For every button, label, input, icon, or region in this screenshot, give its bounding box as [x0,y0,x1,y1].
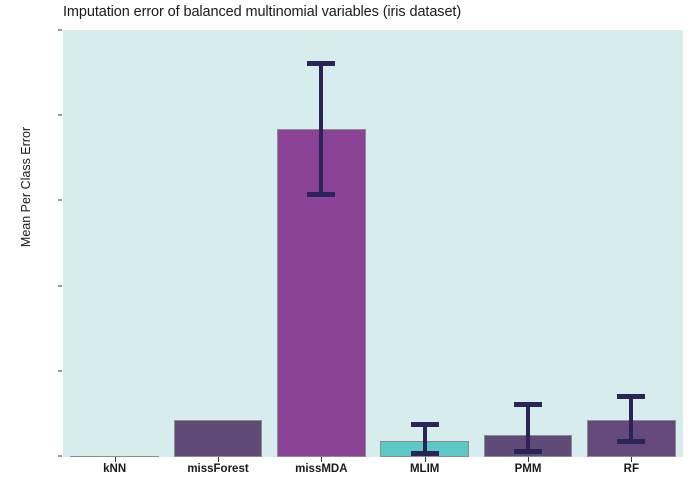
errorbar-cap-bottom-RF [617,439,645,444]
y-tick-mark [58,200,62,201]
errorbar-line-missMDA [319,61,323,197]
errorbar-cap-bottom-missMDA [307,192,335,197]
y-tick-mark [58,456,62,457]
y-tick-mark [58,370,62,371]
y-tick-mark [58,115,62,116]
x-tick-label-RF: RF [624,463,639,475]
y-tick-mark [58,285,62,286]
errorbar-cap-top-MLIM [411,422,439,427]
x-tick-mark [115,457,116,462]
bar-kNN[interactable] [70,456,158,457]
y-axis-title: Mean Per Class Error [19,87,33,287]
x-tick-label-missMDA: missMDA [295,463,347,475]
errorbar-line-PMM [526,402,530,454]
x-tick-mark [321,457,322,462]
x-tick-label-missForest: missForest [187,463,248,475]
errorbar-cap-top-PMM [514,402,542,407]
errorbar-cap-bottom-PMM [514,449,542,454]
chart-title: Imputation error of balanced multinomial… [63,4,461,20]
errorbar-cap-top-RF [617,394,645,399]
bar-missForest[interactable] [174,420,262,457]
y-tick-mark [58,30,62,31]
x-tick-label-MLIM: MLIM [410,463,439,475]
x-tick-label-kNN: kNN [103,463,126,475]
x-tick-label-PMM: PMM [515,463,542,475]
errorbar-line-RF [629,394,633,444]
plot-panel [63,30,683,457]
chart-root: Imputation error of balanced multinomial… [0,0,700,500]
x-tick-mark [631,457,632,462]
errorbar-cap-bottom-MLIM [411,451,439,456]
x-tick-mark [425,457,426,462]
errorbar-cap-top-missMDA [307,61,335,66]
x-tick-mark [218,457,219,462]
x-tick-mark [528,457,529,462]
